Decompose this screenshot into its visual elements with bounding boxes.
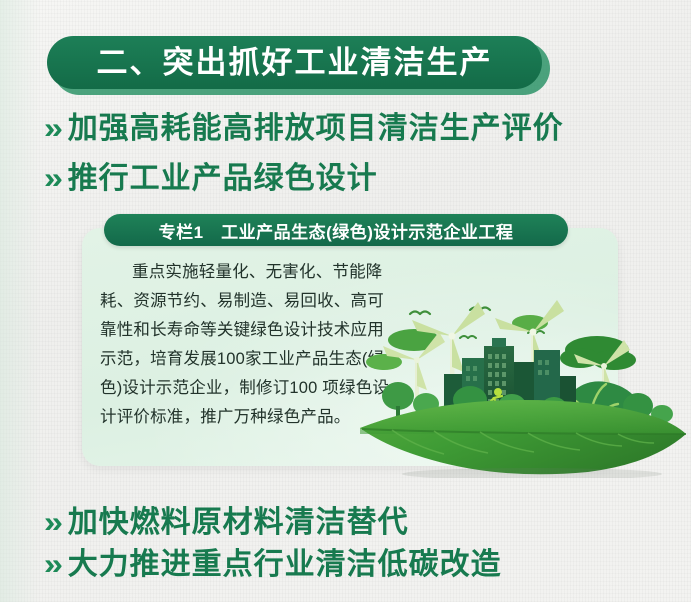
eco-city-illustration [352,288,691,478]
feature-box-header-pill: 专栏1 工业产品生态(绿色)设计示范企业工程 [104,214,568,246]
bird-icon [410,312,430,315]
banner-pill: 二、突出抓好工业清洁生产 [47,36,542,89]
heading-label: 大力推进重点行业清洁低碳改造 [68,550,502,580]
heading-item-1: » 加强高耗能高排放项目清洁生产评价 [45,114,564,144]
heading-item-3: » 加快燃料原材料清洁替代 [45,508,409,538]
banner-title-text: 二、突出抓好工业清洁生产 [97,47,493,78]
feature-box-header-text: 专栏1 工业产品生态(绿色)设计示范企业工程 [159,218,514,243]
heading-item-4: » 大力推进重点行业清洁低碳改造 [45,550,502,580]
heading-item-2: » 推行工业产品绿色设计 [45,164,378,194]
double-chevron-icon: » [44,508,61,538]
double-chevron-icon: » [44,114,61,144]
double-chevron-icon: » [44,164,61,194]
heading-label: 推行工业产品绿色设计 [68,164,378,194]
heading-label: 加快燃料原材料清洁替代 [68,508,409,538]
double-chevron-icon: » [44,550,61,580]
section-title-banner: 二、突出抓好工业清洁生产 [47,36,546,94]
leaf-shadow [402,468,662,478]
bird-icon [460,336,476,338]
background-left-tint [0,0,40,602]
heading-label: 加强高耗能高排放项目清洁生产评价 [68,114,564,144]
